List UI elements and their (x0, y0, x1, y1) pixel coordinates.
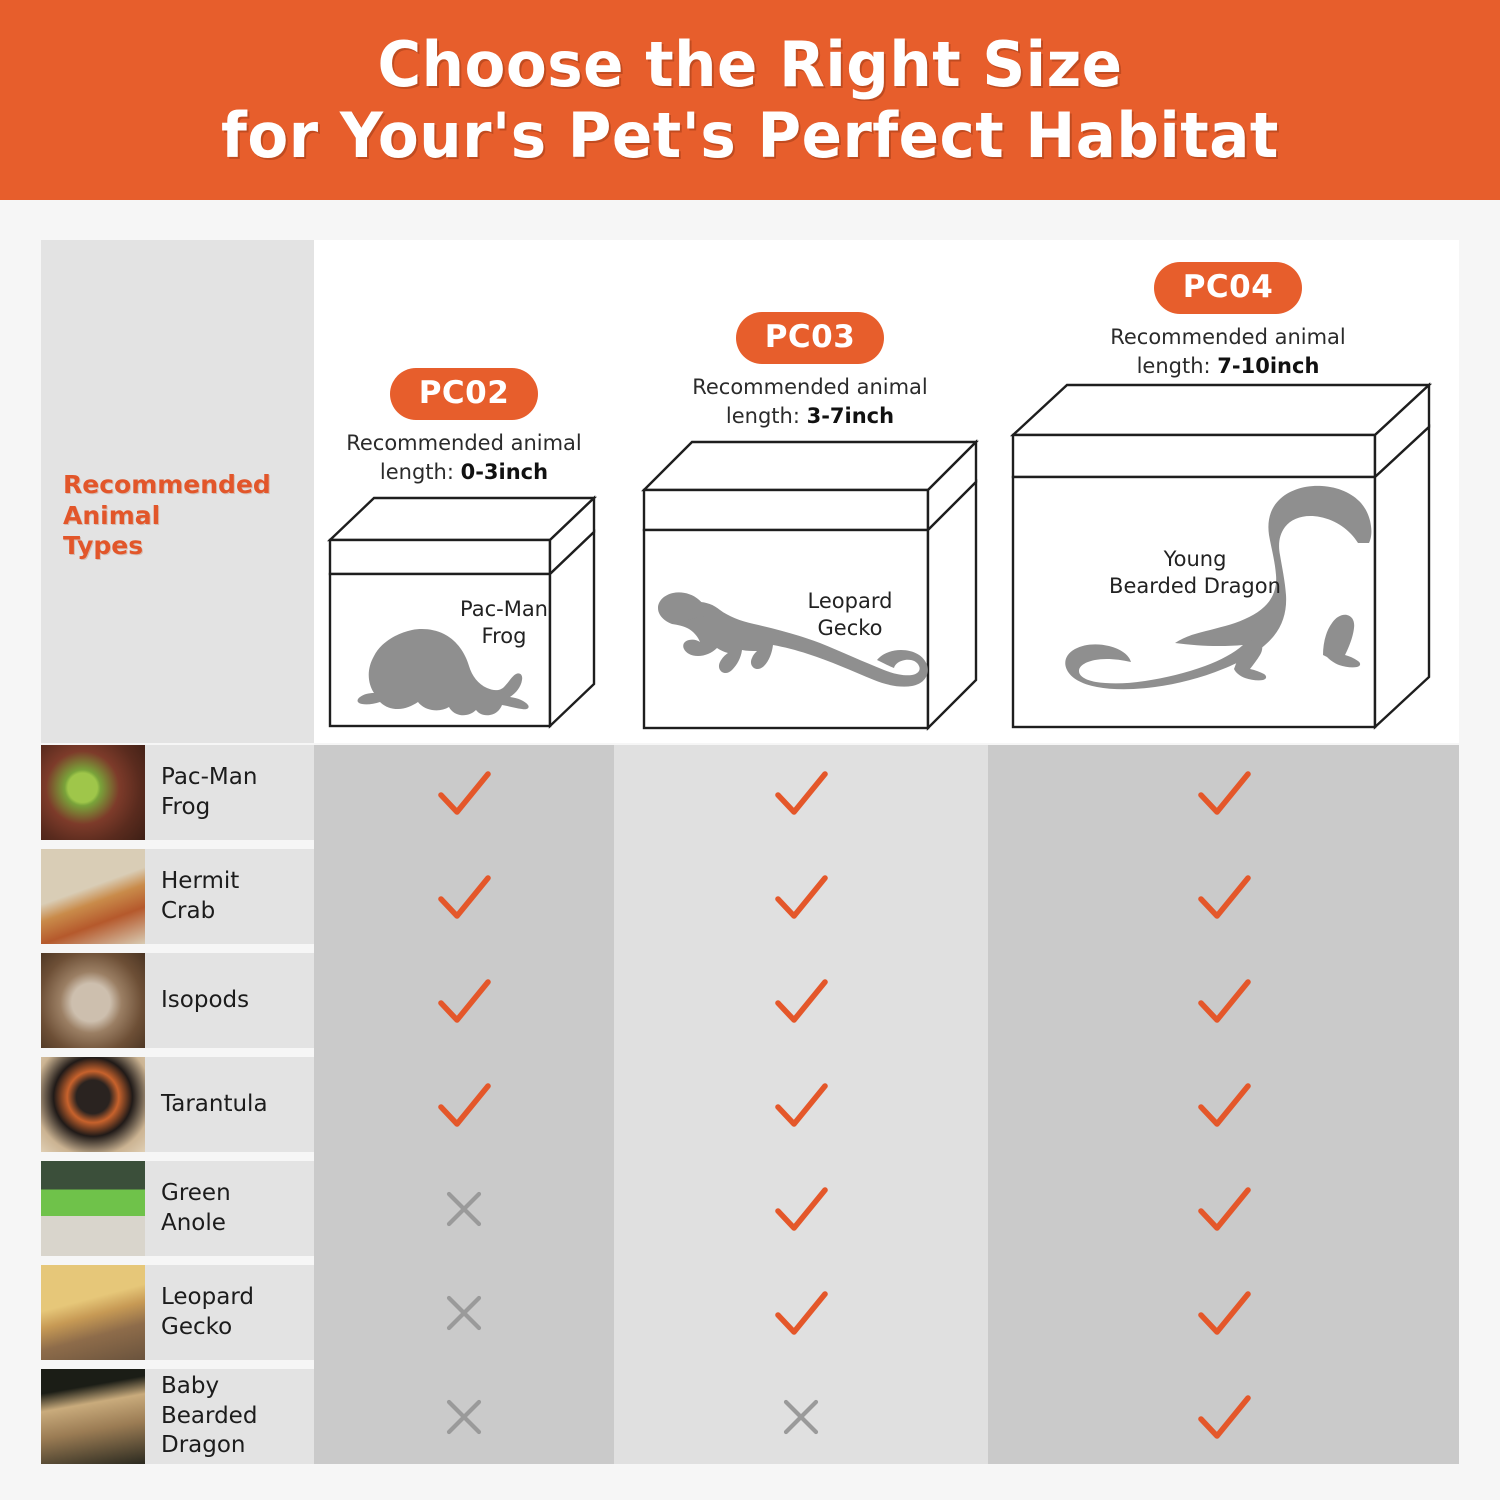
check-icon (614, 1057, 988, 1152)
column-header-pc03: PC03 Recommended animal length: 3-7inch (650, 312, 970, 430)
caption-pc03-line1: Recommended animal (650, 373, 970, 402)
caption-pc03-line2: length: 3-7inch (650, 402, 970, 431)
header-banner: Choose the Right Size for Your's Pet's P… (0, 0, 1500, 200)
badge-pc03[interactable]: PC03 (736, 312, 885, 364)
row-label-line2: Anole (161, 1209, 231, 1239)
side-header-line1: Recommended (63, 470, 313, 501)
caption-pc04: Recommended animal length: 7-10inch (1058, 323, 1398, 380)
header-title-line2: for Your's Pet's Perfect Habitat (221, 104, 1279, 167)
row-label: HermitCrab (161, 867, 239, 927)
check-icon (614, 849, 988, 944)
caption-pc04-value: 7-10inch (1217, 354, 1319, 378)
table-row: Pac-ManFrog (41, 745, 1459, 840)
row-label-cell: HermitCrab (41, 849, 314, 944)
cross-icon (314, 1265, 614, 1360)
check-icon (314, 745, 614, 840)
row-label: Baby BeardedDragon (161, 1372, 314, 1462)
row-label: LeopardGecko (161, 1283, 254, 1343)
row-label-cell: GreenAnole (41, 1161, 314, 1256)
column-header-pc02: PC02 Recommended animal length: 0-3inch (314, 368, 614, 486)
leopard-gecko-photo (41, 1265, 145, 1360)
check-icon (988, 1369, 1459, 1464)
check-icon (988, 953, 1459, 1048)
row-label-line1: Tarantula (161, 1090, 268, 1120)
green-anole-photo (41, 1161, 145, 1256)
box-label-pc03: Leopard Gecko (740, 588, 960, 643)
row-label-cell: LeopardGecko (41, 1265, 314, 1360)
check-icon (614, 953, 988, 1048)
table-row: Isopods (41, 953, 1459, 1048)
caption-pc04-label: length: (1137, 354, 1218, 378)
caption-pc03-value: 3-7inch (807, 404, 895, 428)
table-row: HermitCrab (41, 849, 1459, 944)
caption-pc02-value: 0-3inch (461, 460, 549, 484)
row-label: Isopods (161, 986, 249, 1016)
table-row: GreenAnole (41, 1161, 1459, 1256)
table-row: Baby BeardedDragon (41, 1369, 1459, 1464)
box-label-pc02-line2: Frog (404, 623, 604, 650)
isopods-photo (41, 953, 145, 1048)
side-header-title: Recommended Animal Types (63, 470, 313, 562)
row-label-line1: Isopods (161, 986, 249, 1016)
tarantula-photo (41, 1057, 145, 1152)
infographic-root: Choose the Right Size for Your's Pet's P… (0, 0, 1500, 1500)
caption-pc02: Recommended animal length: 0-3inch (314, 429, 614, 486)
row-label-line2: Frog (161, 793, 257, 823)
box-label-pc03-line1: Leopard (740, 588, 960, 615)
row-label-line2: Gecko (161, 1313, 254, 1343)
box-label-pc02: Pac-Man Frog (404, 596, 604, 651)
badge-pc02[interactable]: PC02 (390, 368, 539, 420)
box-label-pc03-line2: Gecko (740, 615, 960, 642)
box-label-pc04: Young Bearded Dragon (1065, 546, 1325, 601)
check-icon (314, 1057, 614, 1152)
caption-pc02-line2: length: 0-3inch (314, 458, 614, 487)
row-label-line1: Green (161, 1179, 231, 1209)
pac-man-frog-photo (41, 745, 145, 840)
row-label-line1: Hermit (161, 867, 239, 897)
caption-pc02-line1: Recommended animal (314, 429, 614, 458)
table-row: Tarantula (41, 1057, 1459, 1152)
side-header-line3: Types (63, 531, 313, 562)
check-icon (314, 849, 614, 944)
column-header-pc04: PC04 Recommended animal length: 7-10inch (1058, 262, 1398, 380)
baby-bearded-dragon-photo (41, 1369, 145, 1464)
caption-pc04-line1: Recommended animal (1058, 323, 1398, 352)
box-label-pc04-line2: Bearded Dragon (1065, 573, 1325, 600)
check-icon (314, 953, 614, 1048)
row-label: Tarantula (161, 1090, 268, 1120)
row-label-line1: Baby Bearded (161, 1372, 314, 1432)
caption-pc03-label: length: (726, 404, 807, 428)
check-icon (988, 849, 1459, 944)
row-label-line2: Crab (161, 897, 239, 927)
row-label-cell: Tarantula (41, 1057, 314, 1152)
side-header-panel: Recommended Animal Types (41, 240, 314, 743)
table-row: LeopardGecko (41, 1265, 1459, 1360)
row-label-line1: Leopard (161, 1283, 254, 1313)
box-label-pc02-line1: Pac-Man (404, 596, 604, 623)
caption-pc03: Recommended animal length: 3-7inch (650, 373, 970, 430)
header-title-line1: Choose the Right Size (377, 33, 1122, 96)
row-label: Pac-ManFrog (161, 763, 257, 823)
check-icon (614, 1161, 988, 1256)
cross-icon (314, 1161, 614, 1256)
caption-pc02-label: length: (380, 460, 461, 484)
check-icon (988, 745, 1459, 840)
hermit-crab-photo (41, 849, 145, 944)
row-label-line1: Pac-Man (161, 763, 257, 793)
check-icon (614, 745, 988, 840)
row-label-cell: Isopods (41, 953, 314, 1048)
box-label-pc04-line1: Young (1065, 546, 1325, 573)
row-label-cell: Pac-ManFrog (41, 745, 314, 840)
row-label: GreenAnole (161, 1179, 231, 1239)
side-header-line2: Animal (63, 501, 313, 532)
check-icon (988, 1057, 1459, 1152)
cross-icon (614, 1369, 988, 1464)
check-icon (988, 1161, 1459, 1256)
check-icon (988, 1265, 1459, 1360)
badge-pc04[interactable]: PC04 (1154, 262, 1303, 314)
cross-icon (314, 1369, 614, 1464)
terrarium-box-pc03 (636, 432, 984, 738)
check-icon (614, 1265, 988, 1360)
row-label-line2: Dragon (161, 1431, 314, 1461)
row-label-cell: Baby BeardedDragon (41, 1369, 314, 1464)
